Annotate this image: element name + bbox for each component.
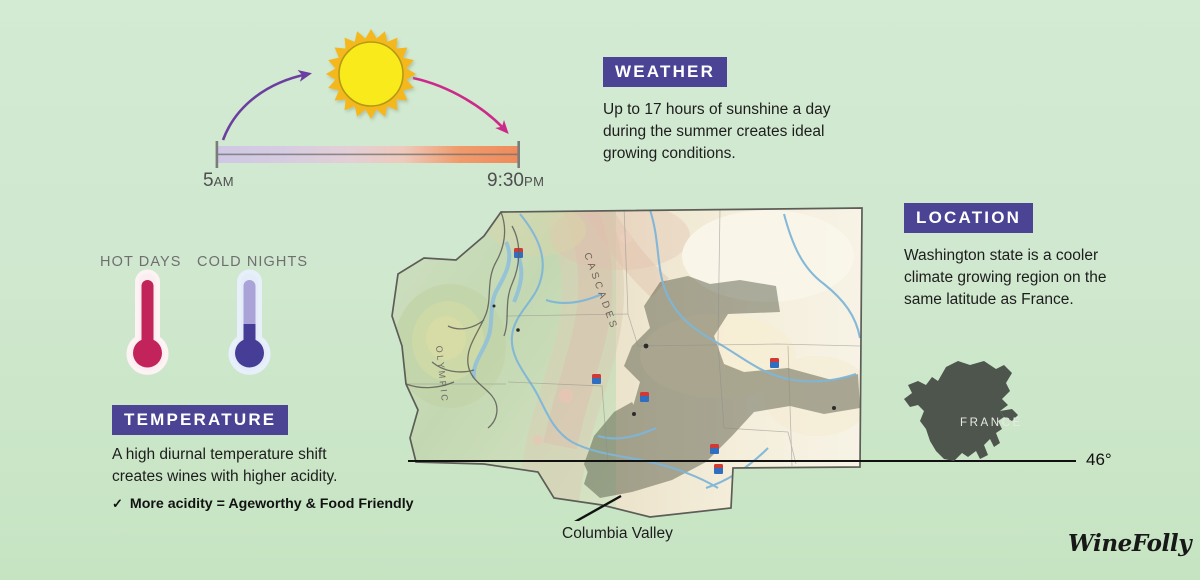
daylight-gradient-bar [216, 141, 520, 168]
france-silhouette [900, 355, 1090, 510]
sun-icon [326, 29, 416, 119]
location-badge: LOCATION [904, 203, 1033, 233]
france-label: FRANCE [960, 417, 1023, 429]
thermometer-illustrations [90, 250, 390, 390]
thermometer-group: HOT DAYS COLD NIGHTS [90, 250, 390, 390]
winefolly-logo: WineFolly [1068, 530, 1191, 557]
france-group: FRANCE [900, 355, 1090, 510]
temperature-badge: TEMPERATURE [112, 405, 288, 435]
daylight-arc-group: 5AM 9:30PM [0, 0, 600, 200]
weather-badge: WEATHER [603, 57, 727, 87]
sunset-time-label: 9:30PM [487, 170, 544, 192]
weather-block: WEATHER Up to 17 hours of sunshine a day… [603, 57, 883, 165]
washington-state-relief-map: OLYMPIC CASCADES [388, 196, 868, 521]
temperature-bullet-text: More acidity = Ageworthy & Food Friendly [130, 496, 414, 512]
weather-body-text: Up to 17 hours of sunshine a day during … [603, 99, 883, 165]
arrow-curve-up-icon [223, 74, 308, 140]
thermometer-hot-icon [129, 272, 167, 373]
check-icon: ✓ [112, 496, 123, 512]
thermometer-cold-icon [231, 272, 269, 373]
location-body-text: Washington state is a cooler climate gro… [904, 245, 1154, 311]
location-block: LOCATION Washington state is a cooler cl… [904, 203, 1154, 311]
infographic-canvas: 5AM 9:30PM WEATHER Up to 17 hours of sun… [0, 0, 1200, 580]
arrow-curve-down-icon [413, 78, 506, 131]
sunrise-time-label: 5AM [203, 170, 234, 192]
washington-map-group: OLYMPIC CASCADES [388, 196, 868, 521]
columbia-valley-callout: Columbia Valley [562, 525, 673, 543]
